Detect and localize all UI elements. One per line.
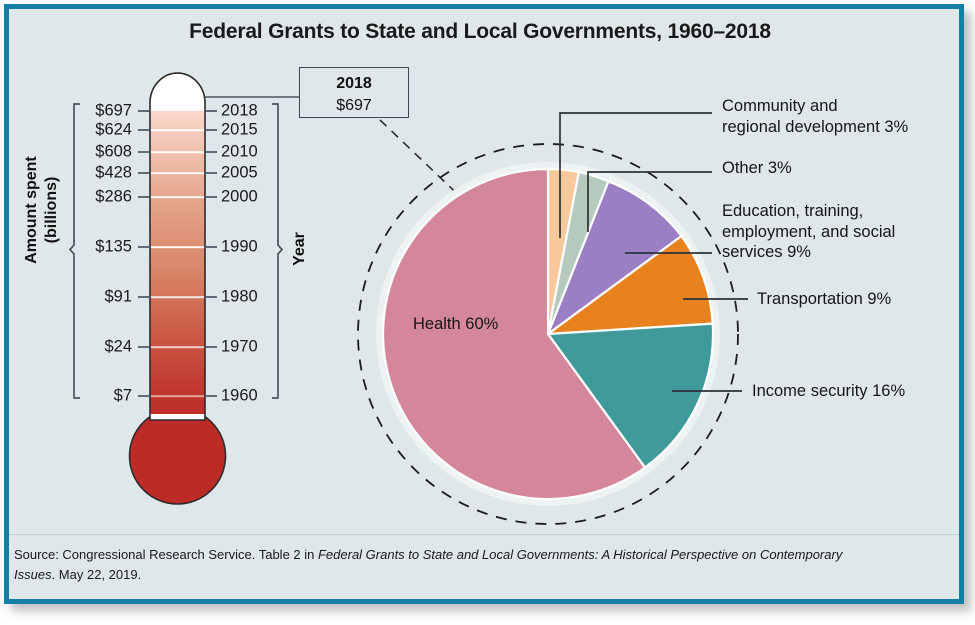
- source-divider: [9, 534, 959, 535]
- tick-amount-1960: $7: [34, 387, 132, 406]
- year-axis-label: Year: [291, 204, 309, 294]
- pie-label-income-security: Income security 16%: [752, 381, 905, 402]
- amount-spent-axis-label: Amount spent (billions): [22, 130, 62, 290]
- tick-year-1970: 1970: [221, 338, 258, 357]
- source-note: Source: Congressional Research Service. …: [14, 545, 884, 584]
- year-bracket: [272, 104, 282, 398]
- infographic-figure: Federal Grants to State and Local Govern…: [0, 0, 975, 625]
- tick-year-2015: 2015: [221, 121, 258, 140]
- tick-year-2010: 2010: [221, 143, 258, 162]
- callout-box-2018[interactable]: 2018 $697: [299, 67, 409, 118]
- tick-year-2000: 2000: [221, 188, 258, 207]
- tick-year-2005: 2005: [221, 164, 258, 183]
- tick-year-1980: 1980: [221, 288, 258, 307]
- source-prefix: Source: Congressional Research Service. …: [14, 547, 318, 562]
- pie-label-health: Health 60%: [413, 315, 498, 334]
- graphics-layer: [0, 0, 975, 625]
- tick-amount-1970: $24: [34, 338, 132, 357]
- pie-label-other: Other 3%: [722, 158, 792, 179]
- tick-year-2018: 2018: [221, 102, 258, 121]
- callout-value-label: $697: [300, 95, 408, 117]
- thermometer-bulb: [130, 408, 226, 504]
- tick-year-1990: 1990: [221, 238, 258, 257]
- pie-label-education: Education, training, employment, and soc…: [722, 201, 895, 263]
- tick-amount-2018: $697: [34, 102, 132, 121]
- thermometer-fill: [150, 111, 205, 421]
- callout-year-label: 2018: [300, 73, 408, 95]
- tick-amount-1980: $91: [34, 288, 132, 307]
- pie-label-community: Community and regional development 3%: [722, 96, 908, 137]
- pie-label-transportation: Transportation 9%: [757, 289, 891, 310]
- tick-year-1960: 1960: [221, 387, 258, 406]
- source-suffix: . May 22, 2019.: [52, 567, 142, 582]
